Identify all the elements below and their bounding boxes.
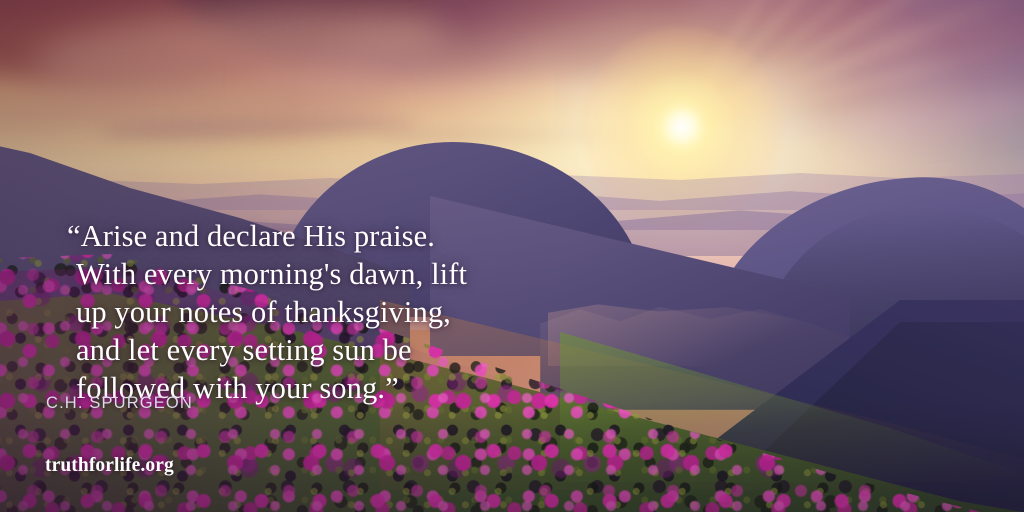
quote-line-4: and let every setting sun be [76,331,696,369]
quote-line-3: up your notes of thanksgiving, [76,293,696,331]
text-overlay: “Arise and declare His praise. With ever… [0,0,1024,512]
quote-attribution: C.H. SPURGEON [46,394,193,413]
quote-line-2: With every morning's dawn, lift [76,255,696,293]
quote-line-1: “Arise and declare His praise. [76,217,696,255]
quote-image-canvas: “Arise and declare His praise. With ever… [0,0,1024,512]
website-url: truthforlife.org [45,455,174,477]
quote-text: “Arise and declare His praise. With ever… [76,217,696,407]
